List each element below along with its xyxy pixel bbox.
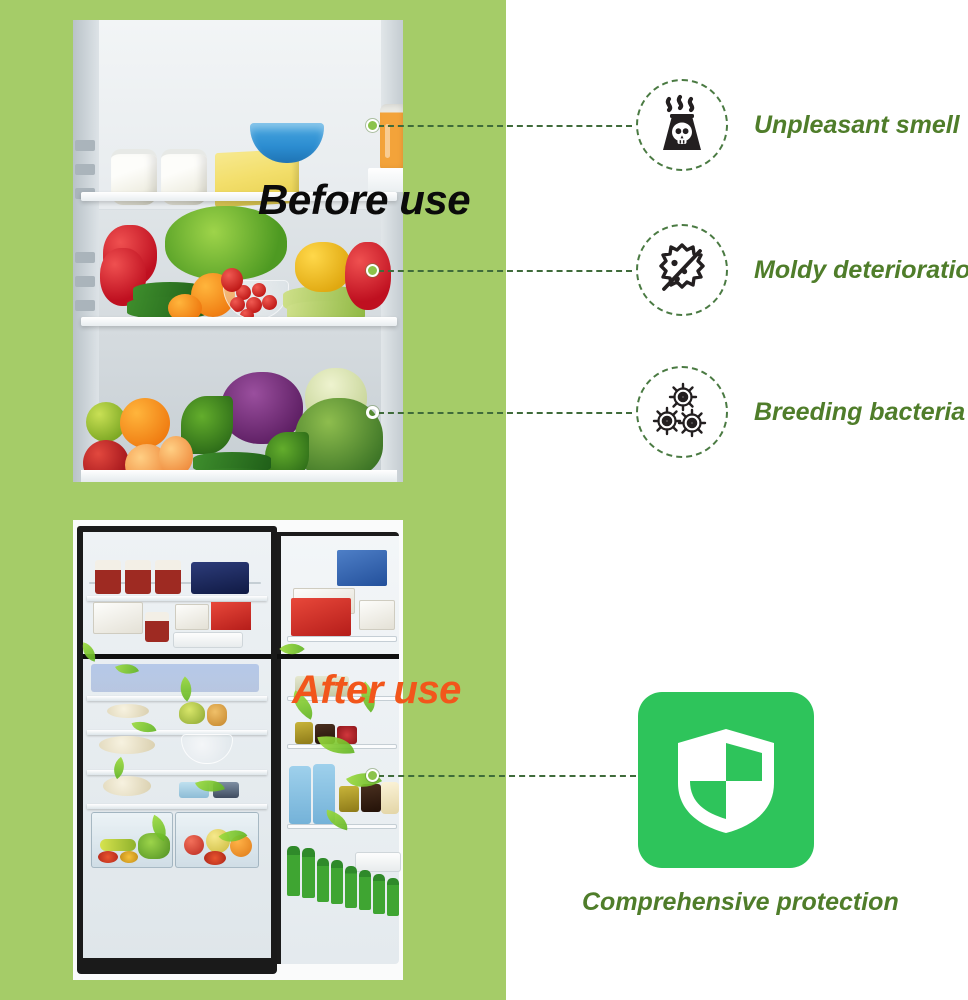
fruit-item <box>179 702 205 724</box>
smelly-bin-skull-icon <box>636 79 728 171</box>
caption-after-use: After use <box>292 668 461 713</box>
pie-package <box>291 598 351 636</box>
fridge-glass-shelf <box>87 696 267 701</box>
fridge-cabin-before <box>73 20 403 482</box>
connector-line-mold <box>378 270 632 272</box>
infographic-canvas: Before use After use <box>0 0 968 1000</box>
cherry-tomato <box>221 268 243 292</box>
problem-row-breeding-bacteria: Breeding bacteria <box>636 366 965 458</box>
problem-label-moldy-deterioration: Moldy deterioration <box>754 256 968 285</box>
pickle-jar <box>339 786 359 812</box>
juice-bottle <box>380 104 403 170</box>
fruit <box>184 835 204 855</box>
connector-dot-bacteria <box>366 406 379 419</box>
pickle-jar <box>295 722 313 744</box>
egg-tray <box>355 852 401 872</box>
problem-row-moldy-deterioration: Moldy deterioration <box>636 224 968 316</box>
freezer-glass-shelf <box>87 596 267 601</box>
shelf-middle <box>81 317 397 326</box>
ice-cream-tub <box>155 560 181 594</box>
green-bottle <box>359 870 371 910</box>
vegetable <box>100 839 136 851</box>
door-bin <box>287 636 397 642</box>
door-bin-item <box>359 600 395 630</box>
ice-cream-tub <box>125 560 151 594</box>
shelf-rail <box>75 300 95 311</box>
shelf-rail <box>75 252 95 263</box>
dessert-plate <box>99 736 155 754</box>
fridge-base <box>77 960 277 974</box>
connector-line-smell <box>378 125 632 127</box>
problem-label-unpleasant-smell: Unpleasant smell <box>754 111 960 140</box>
green-bottle <box>373 874 385 914</box>
fridge-body-after <box>73 520 403 980</box>
red-pepper <box>345 242 391 310</box>
protection-block: Comprehensive protection <box>638 692 814 917</box>
fridge-glass-shelf <box>87 804 267 809</box>
crisper-drawer-fruits <box>175 812 259 868</box>
connector-line-protection <box>378 775 636 777</box>
green-bottle <box>287 846 300 896</box>
caption-before-use: Before use <box>258 176 470 224</box>
protection-label: Comprehensive protection <box>582 888 758 917</box>
connector-line-bacteria <box>378 412 632 414</box>
green-bottle <box>302 848 315 898</box>
frozen-pack <box>93 602 143 634</box>
cherry-tomato <box>252 283 266 297</box>
salad-bowl <box>181 734 233 764</box>
green-bottle <box>331 860 343 904</box>
frozen-pack <box>211 602 251 630</box>
fruit <box>204 851 226 865</box>
meat-tray <box>107 704 149 718</box>
connector-dot-smell <box>366 119 379 132</box>
bacteria-germs-icon <box>636 366 728 458</box>
fridge-glass-shelf <box>87 730 267 735</box>
green-bottle <box>317 858 329 902</box>
fridge-cabinet-interior <box>83 532 271 958</box>
shelf-rail <box>75 140 95 151</box>
connector-dot-mold <box>366 264 379 277</box>
fruit-item <box>207 704 227 726</box>
egg-tray <box>173 632 243 648</box>
problem-row-unpleasant-smell: Unpleasant smell <box>636 79 960 171</box>
photo-fridge-after <box>73 520 403 980</box>
ice-cream-tub <box>145 612 169 642</box>
frozen-pack <box>175 604 209 630</box>
orange <box>120 398 170 448</box>
vegetable <box>120 851 138 863</box>
mold-spore-slash-icon <box>636 224 728 316</box>
green-bottle <box>387 878 399 916</box>
shield-check-icon <box>638 692 814 868</box>
shelf-bottom <box>81 470 397 482</box>
compartment-divider <box>83 654 271 659</box>
fruit-tart-plate <box>103 776 151 796</box>
cherry-tomato <box>262 295 277 310</box>
door-divider <box>277 654 399 659</box>
photo-fridge-before <box>73 20 403 482</box>
frozen-pizza-package <box>337 550 387 586</box>
ice-cream-tub <box>95 560 121 594</box>
mayonnaise-jar <box>381 782 399 814</box>
shelf-rail <box>75 276 95 287</box>
connector-dot-protection <box>366 769 379 782</box>
sauce-jar <box>361 784 381 812</box>
fridge-cabinet <box>77 526 277 966</box>
problem-label-breeding-bacteria: Breeding bacteria <box>754 398 965 427</box>
yellow-pepper <box>295 242 351 292</box>
green-bottle <box>345 866 357 908</box>
shelf-rail <box>75 164 95 175</box>
vegetable <box>98 851 118 863</box>
blue-storage-box <box>191 562 249 594</box>
water-bottle <box>289 766 311 824</box>
